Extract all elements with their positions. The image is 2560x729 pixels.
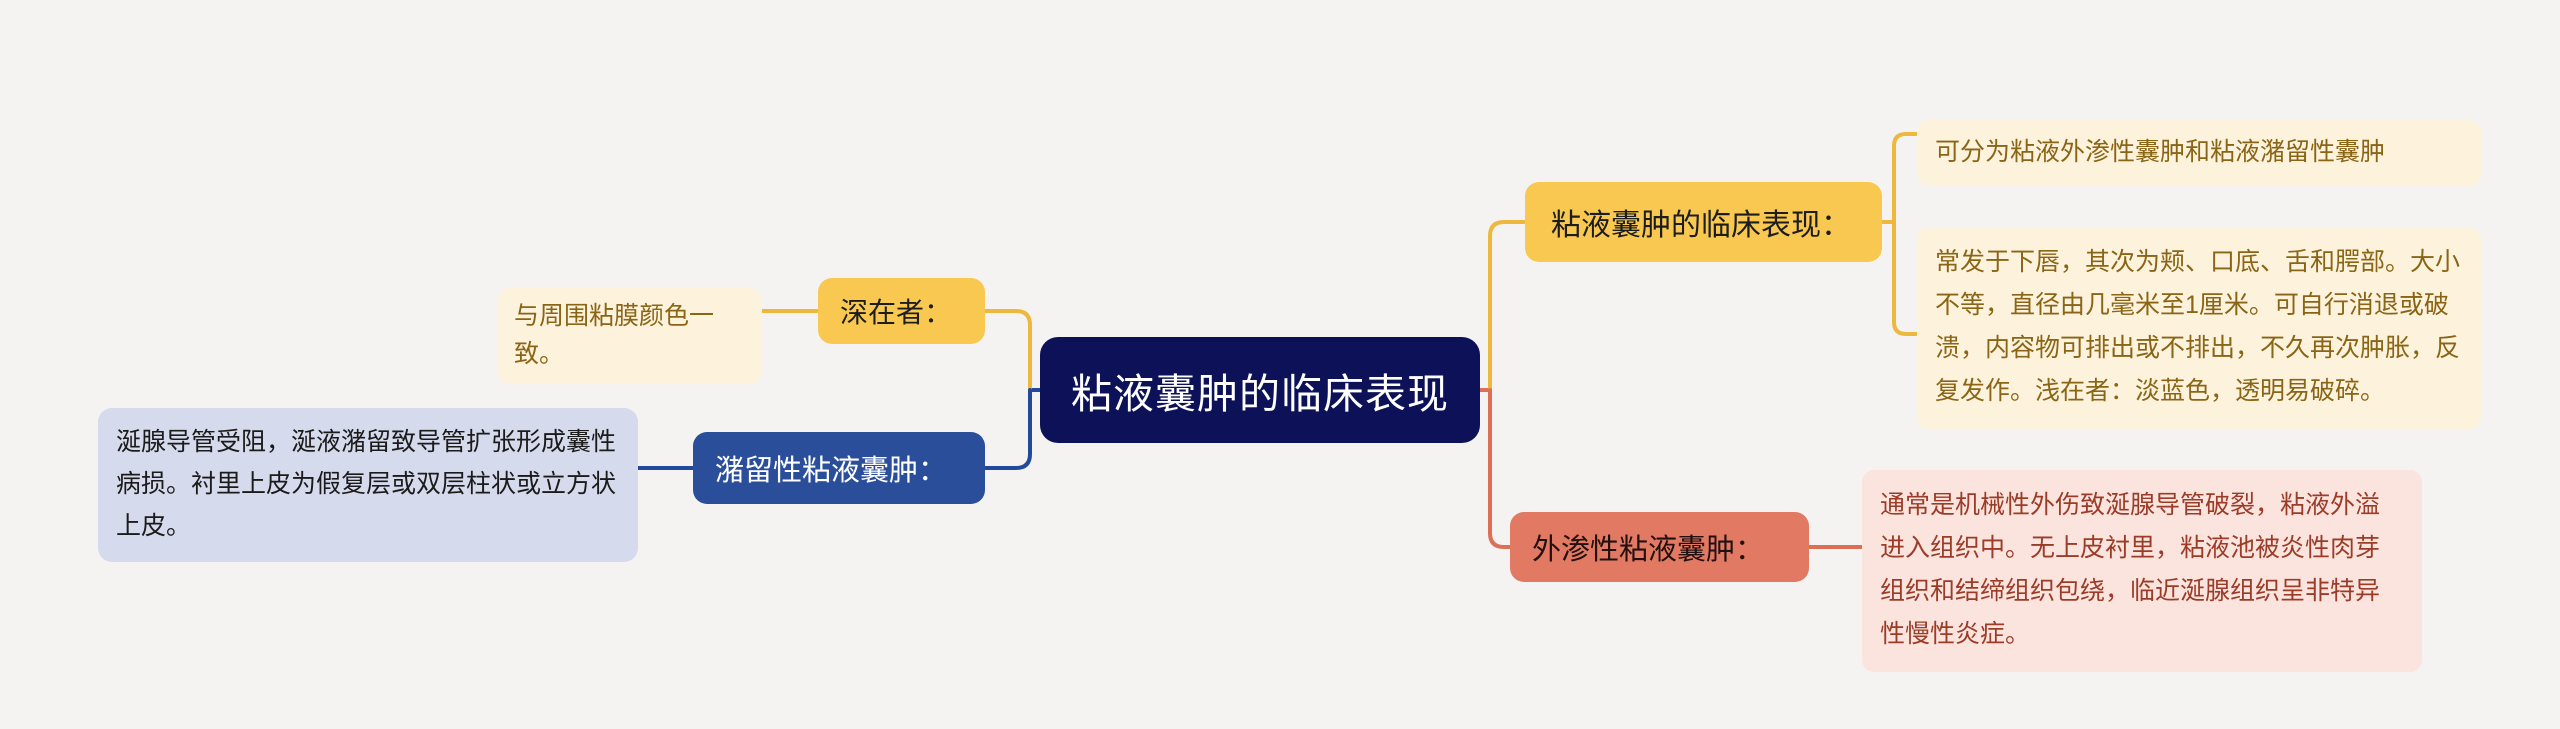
branch-node-retention-mucocele-label: 潴留性粘液囊肿：	[715, 447, 947, 489]
branch-node-extravasation-mucocele-label: 外渗性粘液囊肿：	[1532, 526, 1764, 568]
leaf-retention-description[interactable]: 涎腺导管受阻，涎液潴留致导管扩张形成囊性病损。衬里上皮为假复层或双层柱状或立方状…	[98, 408, 638, 562]
root-node[interactable]: 粘液囊肿的临床表现	[1040, 337, 1480, 443]
branch-node-retention-mucocele[interactable]: 潴留性粘液囊肿：	[693, 432, 985, 504]
leaf-extravasation-description[interactable]: 通常是机械性外伤致涎腺导管破裂，粘液外溢进入组织中。无上皮衬里，粘液池被炎性肉芽…	[1862, 470, 2422, 672]
leaf-extravasation-description-text: 通常是机械性外伤致涎腺导管破裂，粘液外溢进入组织中。无上皮衬里，粘液池被炎性肉芽…	[1880, 491, 2380, 648]
leaf-classification[interactable]: 可分为粘液外渗性囊肿和粘液潴留性囊肿	[1917, 120, 2481, 186]
branch-node-mucocele-clinical[interactable]: 粘液囊肿的临床表现：	[1525, 182, 1882, 262]
branch-node-deep-type[interactable]: 深在者：	[818, 278, 985, 344]
leaf-classification-text: 可分为粘液外渗性囊肿和粘液潴留性囊肿	[1935, 138, 2385, 166]
leaf-same-color-as-mucosa[interactable]: 与周围粘膜颜色一致。	[498, 288, 762, 384]
leaf-retention-description-text: 涎腺导管受阻，涎液潴留致导管扩张形成囊性病损。衬里上皮为假复层或双层柱状或立方状…	[116, 428, 616, 540]
leaf-clinical-features-text: 常发于下唇，其次为颊、口底、舌和腭部。大小不等，直径由几毫米至1厘米。可自行消退…	[1935, 248, 2460, 405]
leaf-clinical-features[interactable]: 常发于下唇，其次为颊、口底、舌和腭部。大小不等，直径由几毫米至1厘米。可自行消退…	[1917, 227, 2481, 429]
branch-node-deep-type-label: 深在者：	[840, 291, 952, 331]
branch-node-mucocele-clinical-label: 粘液囊肿的临床表现：	[1551, 200, 1851, 244]
branch-node-extravasation-mucocele[interactable]: 外渗性粘液囊肿：	[1510, 512, 1809, 582]
mindmap-canvas: 粘液囊肿的临床表现 粘液囊肿的临床表现： 可分为粘液外渗性囊肿和粘液潴留性囊肿 …	[0, 0, 2560, 729]
leaf-same-color-as-mucosa-text: 与周围粘膜颜色一致。	[514, 302, 714, 368]
root-node-label: 粘液囊肿的临床表现	[1071, 360, 1449, 420]
